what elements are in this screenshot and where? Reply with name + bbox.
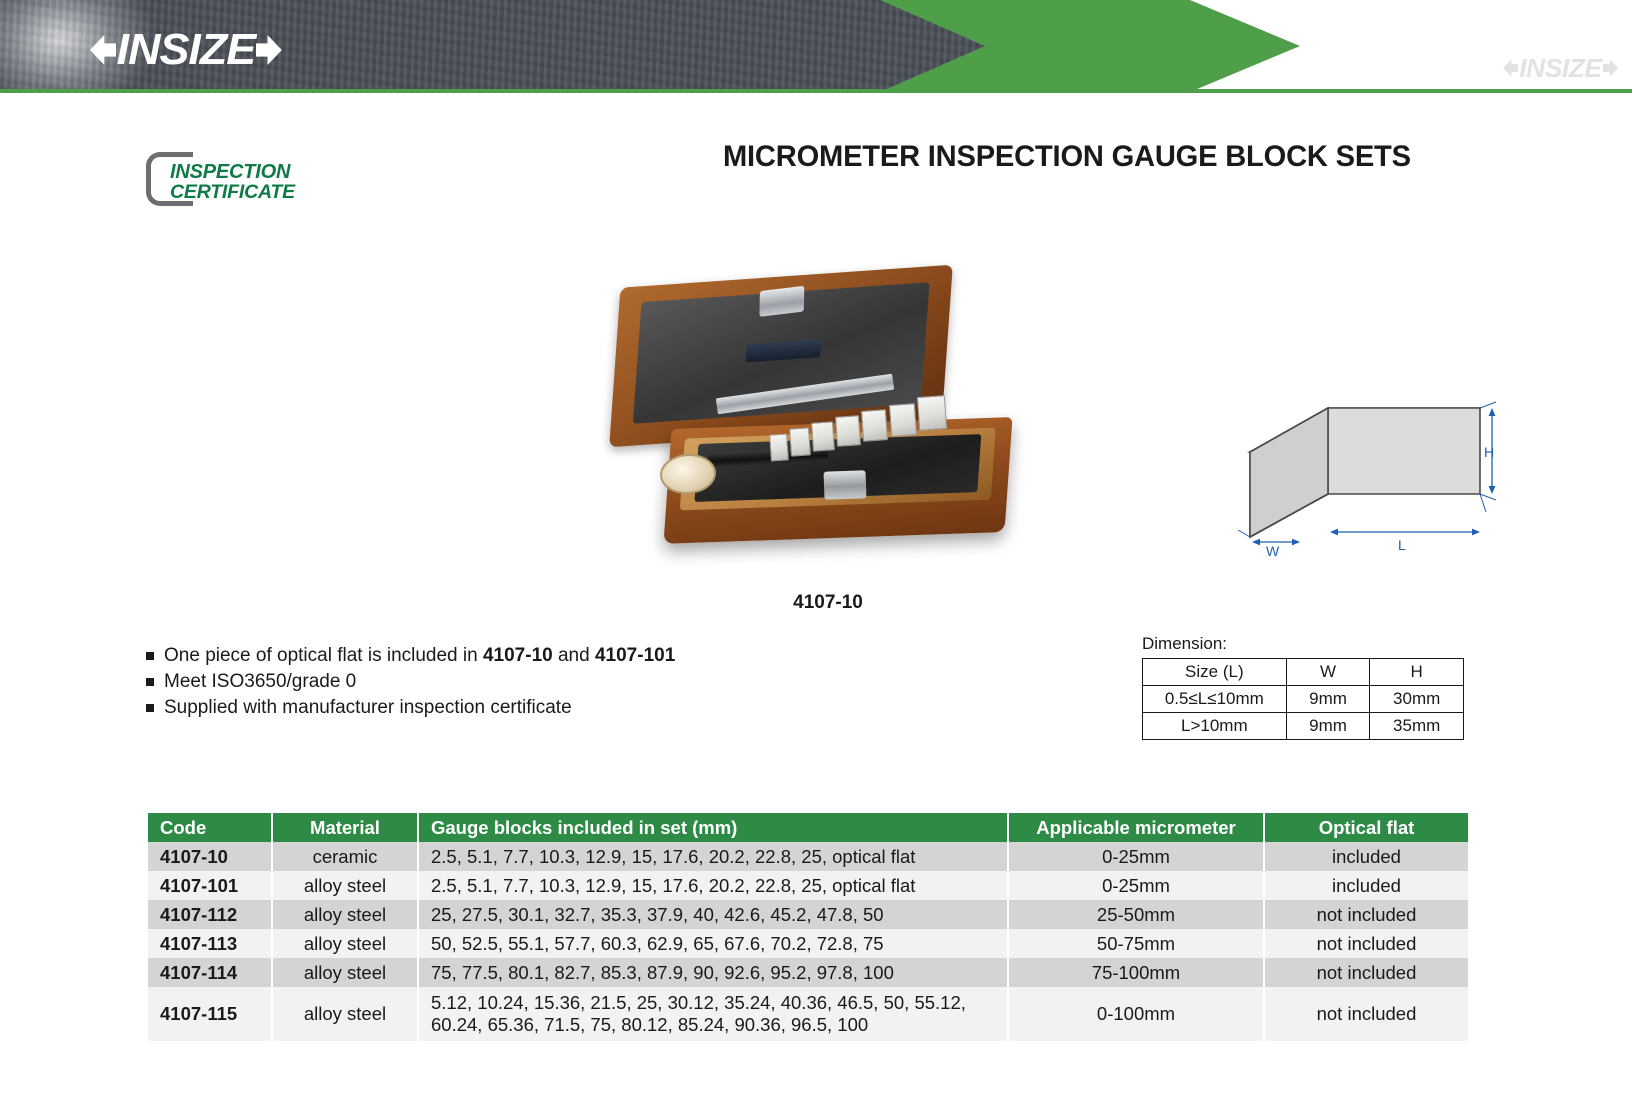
cell-material: alloy steel [272, 987, 418, 1041]
cell-blocks: 2.5, 5.1, 7.7, 10.3, 12.9, 15, 17.6, 20.… [418, 871, 1008, 900]
cell-blocks: 50, 52.5, 55.1, 57.7, 60.3, 62.9, 65, 67… [418, 929, 1008, 958]
gauge-block [889, 403, 917, 437]
cell-optical-flat: not included [1264, 900, 1468, 929]
cell-blocks: 75, 77.5, 80.1, 82.7, 85.3, 87.9, 90, 92… [418, 958, 1008, 987]
watermark-right-arrow-icon [1603, 59, 1618, 77]
logo-wordmark: INSIZE [115, 30, 258, 70]
product-photo [608, 258, 1048, 578]
dimension-table-block: Dimension: Size (L) W H 0.5≤L≤10mm 9mm 3… [1142, 634, 1464, 740]
bullet-square-icon [146, 678, 154, 686]
diagram-w-label: W [1266, 543, 1280, 557]
cell-material: alloy steel [272, 958, 418, 987]
table-header-row: Code Material Gauge blocks included in s… [148, 813, 1468, 842]
lid-clasp-icon [759, 286, 804, 317]
cell-code: 4107-114 [148, 958, 272, 987]
dimension-table: Size (L) W H 0.5≤L≤10mm 9mm 30mm L>10mm … [1142, 658, 1464, 740]
logo-right-arrow-icon [256, 35, 282, 65]
cell-code: 4107-101 [148, 871, 272, 900]
table-row: 0.5≤L≤10mm 9mm 30mm [1143, 686, 1464, 713]
certificate-badge-line1: INSPECTION [170, 162, 295, 182]
cell-optical-flat: not included [1264, 929, 1468, 958]
bullet-square-icon [146, 704, 154, 712]
cell-optical-flat: included [1264, 871, 1468, 900]
cell-micrometer: 75-100mm [1008, 958, 1264, 987]
table-row[interactable]: 4107-112 alloy steel 25, 27.5, 30.1, 32.… [148, 900, 1468, 929]
diagram-l-label: L [1398, 537, 1406, 553]
table-row[interactable]: 4107-113 alloy steel 50, 52.5, 55.1, 57.… [148, 929, 1468, 958]
list-item: Meet ISO3650/grade 0 [146, 670, 706, 694]
inspection-certificate-badge: INSPECTION CERTIFICATE [146, 148, 336, 210]
table-row[interactable]: 4107-101 alloy steel 2.5, 5.1, 7.7, 10.3… [148, 871, 1468, 900]
gauge-block [861, 409, 888, 442]
list-item: One piece of optical flat is included in… [146, 644, 706, 668]
certificate-badge-text: INSPECTION CERTIFICATE [170, 162, 295, 202]
dim-header-w: W [1286, 659, 1370, 686]
front-clasp-icon [824, 470, 867, 499]
certificate-badge-line2: CERTIFICATE [170, 182, 295, 202]
diagram-h-label: H [1484, 444, 1494, 460]
dim-cell-size: 0.5≤L≤10mm [1143, 686, 1287, 713]
cell-material: alloy steel [272, 900, 418, 929]
product-table-body: 4107-10 ceramic 2.5, 5.1, 7.7, 10.3, 12.… [148, 842, 1468, 1041]
gauge-block [835, 415, 861, 447]
cell-optical-flat: not included [1264, 958, 1468, 987]
bullet-text: One piece of optical flat is included in… [164, 644, 675, 668]
table-row: Size (L) W H [1143, 659, 1464, 686]
table-row: L>10mm 9mm 35mm [1143, 713, 1464, 740]
dim-cell-h: 30mm [1370, 686, 1464, 713]
cell-code: 4107-112 [148, 900, 272, 929]
table-row[interactable]: 4107-115 alloy steel 5.12, 10.24, 15.36,… [148, 987, 1468, 1041]
table-row[interactable]: 4107-114 alloy steel 75, 77.5, 80.1, 82.… [148, 958, 1468, 987]
cell-blocks: 2.5, 5.1, 7.7, 10.3, 12.9, 15, 17.6, 20.… [418, 842, 1008, 871]
column-header-code: Code [148, 813, 272, 842]
gauge-block [811, 421, 835, 451]
cell-material: alloy steel [272, 871, 418, 900]
dim-cell-w: 9mm [1286, 686, 1370, 713]
bullet-0-text-before: One piece of optical flat is included in [164, 645, 483, 666]
bullet-0-code-1: 4107-10 [483, 645, 553, 666]
dim-header-h: H [1370, 659, 1464, 686]
cell-optical-flat: included [1264, 842, 1468, 871]
bullet-0-code-2: 4107-101 [595, 645, 675, 666]
gauge-block [917, 395, 947, 431]
cell-material: ceramic [272, 842, 418, 871]
bullet-text: Meet ISO3650/grade 0 [164, 670, 356, 694]
dim-cell-size: L>10mm [1143, 713, 1287, 740]
cell-code: 4107-113 [148, 929, 272, 958]
cell-code: 4107-115 [148, 987, 272, 1041]
column-header-micrometer: Applicable micrometer [1008, 813, 1264, 842]
product-photo-caption: 4107-10 [608, 592, 1048, 614]
cell-micrometer: 0-25mm [1008, 871, 1264, 900]
list-item: Supplied with manufacturer inspection ce… [146, 696, 706, 720]
column-header-optical-flat: Optical flat [1264, 813, 1468, 842]
gauge-block [789, 427, 811, 456]
feature-bullet-list: One piece of optical flat is included in… [146, 644, 706, 722]
cell-blocks: 25, 27.5, 30.1, 32.7, 35.3, 37.9, 40, 42… [418, 900, 1008, 929]
cell-code: 4107-10 [148, 842, 272, 871]
bullet-square-icon [146, 652, 154, 660]
gauge-block [769, 433, 789, 461]
cell-micrometer: 50-75mm [1008, 929, 1264, 958]
insize-logo[interactable]: INSIZE [90, 30, 282, 70]
cell-micrometer: 25-50mm [1008, 900, 1264, 929]
insize-logo-watermark: INSIZE [1503, 56, 1618, 80]
dim-header-size: Size (L) [1143, 659, 1287, 686]
cell-optical-flat: not included [1264, 987, 1468, 1041]
column-header-blocks: Gauge blocks included in set (mm) [418, 813, 1008, 842]
bullet-0-middle: and [553, 645, 595, 666]
product-table-block: Code Material Gauge blocks included in s… [148, 813, 1468, 1041]
column-header-material: Material [272, 813, 418, 842]
page-header: INSIZE INSIZE [0, 0, 1632, 92]
cell-material: alloy steel [272, 929, 418, 958]
dim-cell-h: 35mm [1370, 713, 1464, 740]
table-row[interactable]: 4107-10 ceramic 2.5, 5.1, 7.7, 10.3, 12.… [148, 842, 1468, 871]
cell-micrometer: 0-25mm [1008, 842, 1264, 871]
dim-cell-w: 9mm [1286, 713, 1370, 740]
cell-micrometer: 0-100mm [1008, 987, 1264, 1041]
watermark-left-arrow-icon [1503, 59, 1518, 77]
page-title: MICROMETER INSPECTION GAUGE BLOCK SETS [723, 140, 1411, 174]
bullet-text: Supplied with manufacturer inspection ce… [164, 696, 572, 720]
dimension-label: Dimension: [1142, 634, 1464, 654]
gauge-block-dimension-diagram: H L W [1230, 372, 1500, 557]
watermark-wordmark: INSIZE [1517, 56, 1603, 80]
logo-left-arrow-icon [90, 35, 116, 65]
cell-blocks: 5.12, 10.24, 15.36, 21.5, 25, 30.12, 35.… [418, 987, 1008, 1041]
header-green-divider [0, 89, 1632, 93]
product-table: Code Material Gauge blocks included in s… [148, 813, 1468, 1041]
